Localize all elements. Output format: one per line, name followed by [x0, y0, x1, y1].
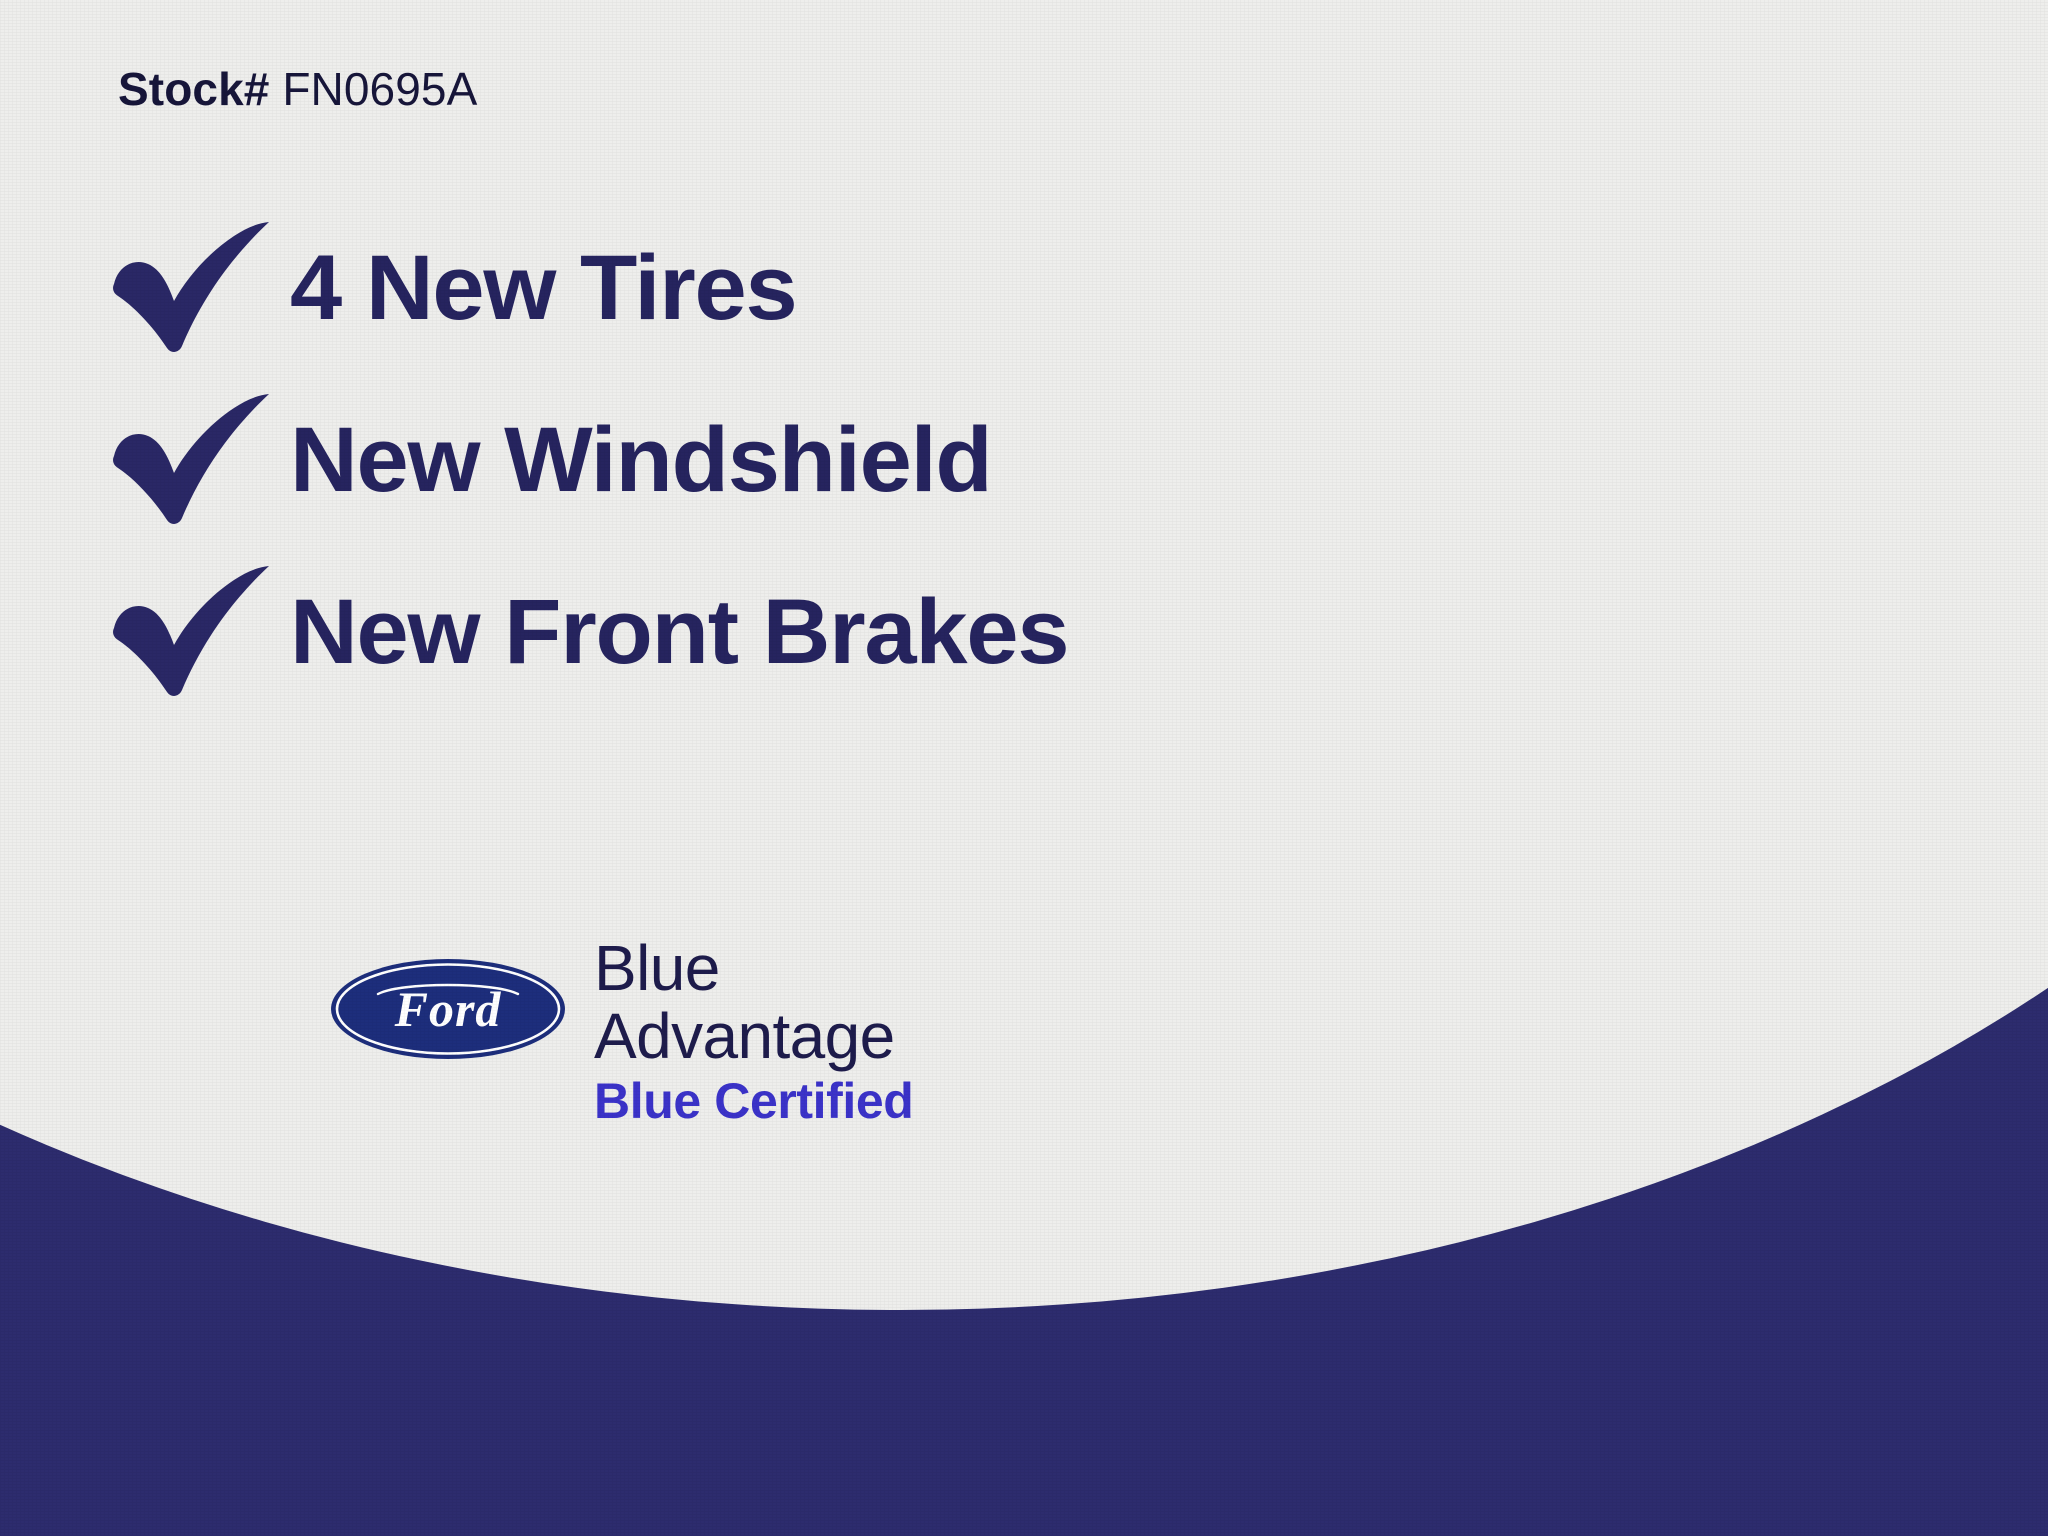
checkmark-icon [100, 222, 290, 354]
ford-blue-advantage-text: Blue Advantage Blue Certified [594, 936, 913, 1126]
feature-label: 4 New Tires [290, 242, 796, 334]
feature-label: New Front Brakes [290, 586, 1068, 678]
ford-blue-advantage-logo: Ford Blue Advantage Blue Certified [330, 936, 913, 1126]
svg-text:Ford: Ford [394, 981, 502, 1037]
ford-oval-logo-icon: Ford [330, 958, 566, 1060]
checkmark-icon [100, 394, 290, 526]
fba-blue-certified: Blue Certified [594, 1076, 913, 1126]
feature-list: 4 New Tires New Windshield New Front Bra… [100, 212, 1500, 728]
feature-row: New Front Brakes [100, 556, 1500, 708]
fba-line-advantage: Advantage [594, 1004, 913, 1068]
stock-number: Stock# FN0695A [118, 62, 477, 116]
checkmark-icon [100, 566, 290, 698]
feature-row: 4 New Tires [100, 212, 1500, 364]
stock-number-value: FN0695A [282, 63, 477, 115]
feature-row: New Windshield [100, 384, 1500, 536]
fba-line-blue: Blue [594, 936, 913, 1000]
feature-label: New Windshield [290, 414, 992, 506]
vehicle-feature-card: Stock# FN0695A 4 New Tires New Windshiel… [0, 0, 2048, 1536]
stock-number-label: Stock# [118, 63, 269, 115]
